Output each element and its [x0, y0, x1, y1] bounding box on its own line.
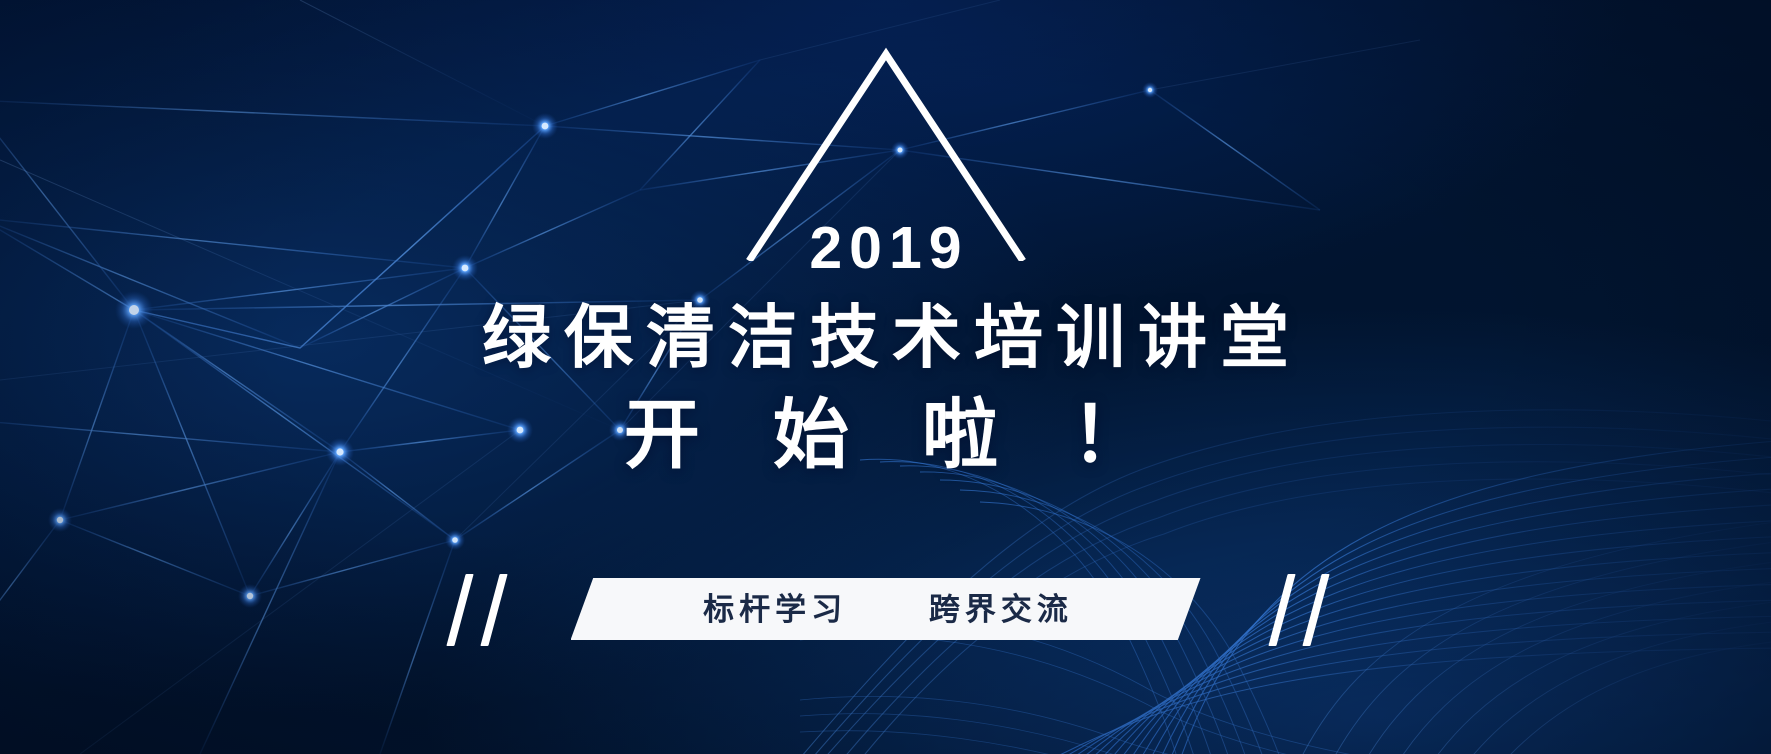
promo-banner: 2019 绿保清洁技术培训讲堂 开 始 啦 ！ 标杆学习 跨界交流	[0, 0, 1771, 754]
year-label: 2019	[802, 219, 968, 278]
decorative-slash-right-1	[1268, 574, 1295, 646]
page-title: 绿保清洁技术培训讲堂	[469, 303, 1302, 372]
decorative-slash-right-2	[1302, 574, 1329, 646]
page-subtitle: 开 始 啦 ！	[598, 398, 1173, 474]
tagline-ribbon: 标杆学习 跨界交流	[571, 578, 1201, 640]
decorative-slash-left-1	[446, 574, 473, 646]
tagline-text: 标杆学习 跨界交流	[698, 594, 1073, 625]
decorative-slash-left-2	[480, 574, 507, 646]
